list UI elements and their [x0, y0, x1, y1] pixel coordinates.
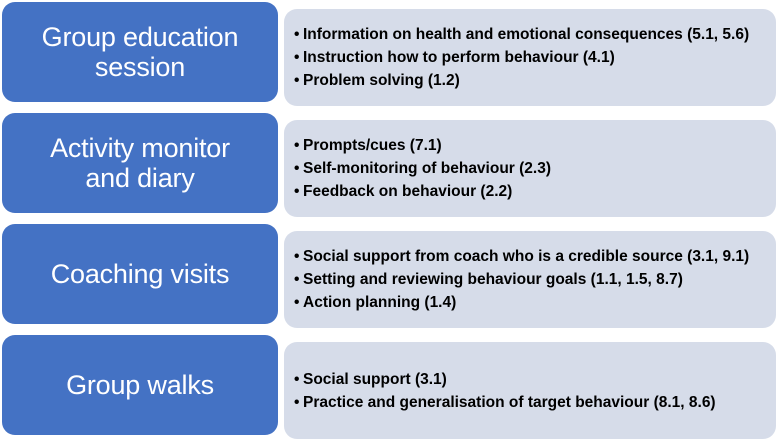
bct-list-item: •Information on health and emotional con… — [294, 24, 768, 47]
bullet-icon: • — [294, 181, 303, 204]
bct-text: Social support from coach who is a credi… — [303, 246, 749, 269]
intervention-bct-diagram: Group education session •Information on … — [0, 0, 781, 436]
bullet-icon: • — [294, 369, 303, 392]
intervention-box-activity-monitor-and-diary[interactable]: Activity monitor and diary — [2, 113, 278, 213]
bullet-icon: • — [294, 269, 303, 292]
diagram-row: Group walks •Social support (3.1) •Pract… — [0, 330, 781, 436]
bct-list: •Information on health and emotional con… — [294, 24, 768, 93]
bct-text: Feedback on behaviour (2.2) — [303, 181, 512, 204]
intervention-box-coaching-visits[interactable]: Coaching visits — [2, 224, 278, 324]
intervention-label: Group walks — [66, 370, 214, 400]
bct-list: •Social support (3.1) •Practice and gene… — [294, 369, 768, 415]
intervention-label: Activity monitor and diary — [50, 133, 230, 193]
bct-list-item: •Instruction how to perform behaviour (4… — [294, 47, 768, 70]
bct-text: Social support (3.1) — [303, 369, 447, 392]
bullet-icon: • — [294, 158, 303, 181]
bct-list: •Prompts/cues (7.1) •Self-monitoring of … — [294, 135, 768, 204]
bct-list-item: •Problem solving (1.2) — [294, 70, 768, 93]
bullet-icon: • — [294, 135, 303, 158]
bct-list: •Social support from coach who is a cred… — [294, 246, 768, 315]
intervention-label: Group education session — [42, 22, 239, 82]
intervention-label: Coaching visits — [51, 259, 230, 289]
bct-text: Problem solving (1.2) — [303, 70, 460, 93]
bullet-icon: • — [294, 70, 303, 93]
bct-text: Practice and generalisation of target be… — [303, 392, 716, 415]
bct-list-item: •Self-monitoring of behaviour (2.3) — [294, 158, 768, 181]
bct-box-coaching-visits[interactable]: •Social support from coach who is a cred… — [284, 231, 776, 328]
diagram-row: Group education session •Information on … — [0, 0, 781, 110]
bct-text: Instruction how to perform behaviour (4.… — [303, 47, 615, 70]
bullet-icon: • — [294, 47, 303, 70]
bct-text: Prompts/cues (7.1) — [303, 135, 442, 158]
bct-text: Information on health and emotional cons… — [303, 24, 749, 47]
bullet-icon: • — [294, 246, 303, 269]
bct-list-item: •Social support from coach who is a cred… — [294, 246, 768, 269]
bullet-icon: • — [294, 392, 303, 415]
bct-list-item: •Social support (3.1) — [294, 369, 768, 392]
bct-text: Setting and reviewing behaviour goals (1… — [303, 269, 683, 292]
bct-box-group-education-session[interactable]: •Information on health and emotional con… — [284, 9, 776, 106]
intervention-box-group-walks[interactable]: Group walks — [2, 335, 278, 435]
bct-text: Action planning (1.4) — [303, 292, 456, 315]
diagram-row: Activity monitor and diary •Prompts/cues… — [0, 110, 781, 220]
bullet-icon: • — [294, 24, 303, 47]
bct-text: Self-monitoring of behaviour (2.3) — [303, 158, 551, 181]
bct-box-group-walks[interactable]: •Social support (3.1) •Practice and gene… — [284, 342, 776, 439]
diagram-row: Coaching visits •Social support from coa… — [0, 220, 781, 330]
bullet-icon: • — [294, 292, 303, 315]
bct-list-item: •Setting and reviewing behaviour goals (… — [294, 269, 768, 292]
bct-list-item: •Action planning (1.4) — [294, 292, 768, 315]
bct-list-item: •Feedback on behaviour (2.2) — [294, 181, 768, 204]
bct-list-item: •Practice and generalisation of target b… — [294, 392, 768, 415]
bct-box-activity-monitor-and-diary[interactable]: •Prompts/cues (7.1) •Self-monitoring of … — [284, 120, 776, 217]
intervention-box-group-education-session[interactable]: Group education session — [2, 2, 278, 102]
bct-list-item: •Prompts/cues (7.1) — [294, 135, 768, 158]
